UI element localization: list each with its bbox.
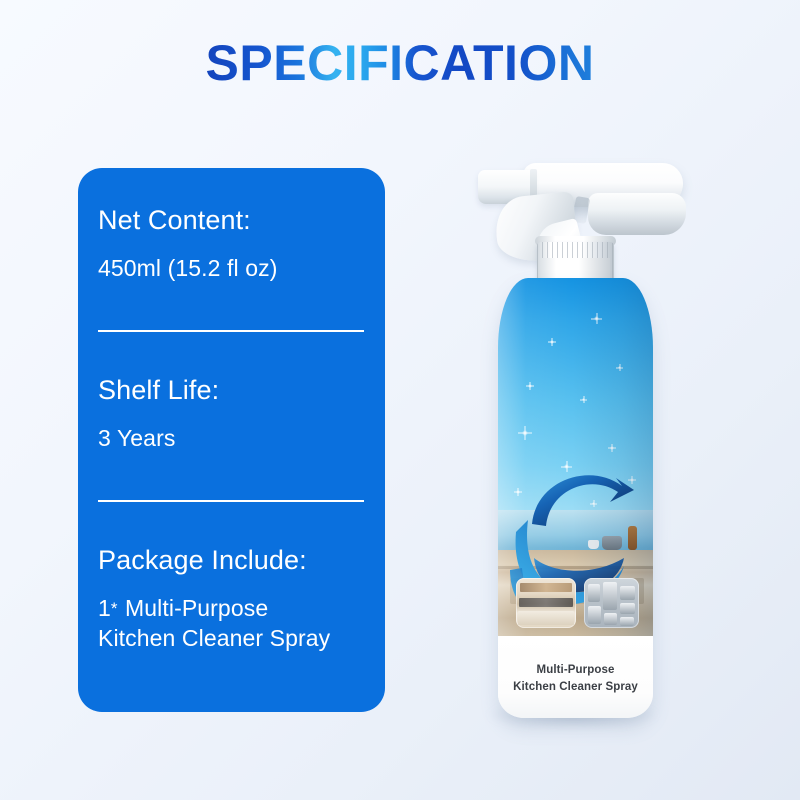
appliance-item — [620, 617, 634, 626]
product-image: Multi-Purpose Kitchen Cleaner Spray — [440, 150, 710, 750]
spacer — [98, 502, 357, 544]
kitchen-upper-shelf — [520, 583, 572, 592]
appliance-item — [620, 586, 635, 600]
page-title: SPECIFICATION — [206, 38, 595, 88]
kitchen-counter — [519, 598, 573, 607]
package-line1: Multi-Purpose — [119, 595, 269, 621]
appliance-item — [603, 582, 617, 610]
spacer — [98, 454, 357, 500]
specification-panel: Net Content: 450ml (15.2 fl oz) Shelf Li… — [78, 168, 385, 712]
spec-block-net-content: Net Content: 450ml (15.2 fl oz) — [98, 204, 357, 284]
spec-block-shelf-life: Shelf Life: 3 Years — [98, 374, 357, 454]
inset-photo-home-appliances — [584, 578, 639, 628]
spec-heading-shelf-life: Shelf Life: — [98, 374, 357, 406]
package-star: * — [111, 599, 119, 618]
spec-value-net-content: 450ml (15.2 fl oz) — [98, 253, 357, 283]
bottle-label-text: Multi-Purpose Kitchen Cleaner Spray — [498, 662, 653, 697]
appliance-item — [588, 606, 601, 624]
spec-value-package-include: 1* Multi-PurposeKitchen Cleaner Spray — [98, 593, 357, 654]
spacer — [98, 332, 357, 374]
spec-value-shelf-life: 3 Years — [98, 423, 357, 453]
spec-block-package-include: Package Include: 1* Multi-PurposeKitchen… — [98, 544, 357, 654]
page-title-container: SPECIFICATION — [0, 38, 800, 88]
spec-heading-net-content: Net Content: — [98, 204, 357, 236]
appliance-item — [620, 603, 635, 614]
bottle-body: Multi-Purpose Kitchen Cleaner Spray — [498, 278, 653, 718]
inset-photo-kitchen-interior — [516, 578, 576, 628]
kitchen-lower-cabinets — [518, 611, 574, 625]
package-line2: Kitchen Cleaner Spray — [98, 625, 330, 651]
sprayer-front-body — [588, 193, 686, 235]
trigger-sprayer-head — [478, 163, 683, 243]
spec-heading-package-include: Package Include: — [98, 544, 357, 576]
package-qty: 1 — [98, 595, 111, 621]
appliance-item — [588, 584, 600, 602]
spacer — [98, 284, 357, 330]
bottle-label-line1: Multi-Purpose — [498, 662, 653, 679]
bottle-label-line2: Kitchen Cleaner Spray — [498, 679, 653, 696]
appliance-item — [604, 613, 617, 625]
